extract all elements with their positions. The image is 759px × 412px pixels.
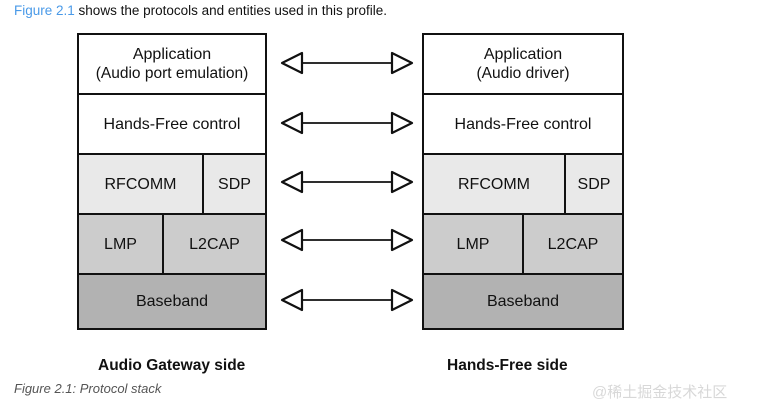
- cell-hands-free-control-right: Hands-Free control: [424, 95, 622, 153]
- cell-sdp-right: SDP: [566, 155, 622, 213]
- watermark: @稀土掘金技术社区: [592, 381, 727, 402]
- figure-reference-link[interactable]: Figure 2.1: [14, 3, 75, 18]
- cell-application-right-sub: (Audio driver): [476, 64, 569, 83]
- cell-l2cap-left: L2CAP: [164, 215, 265, 273]
- connector-hands-free-control-link: [278, 110, 416, 136]
- connector-application-link: [278, 50, 416, 76]
- cell-l2cap-right: L2CAP: [524, 215, 622, 273]
- band-hands-free-control-left: Hands-Free control: [79, 95, 265, 155]
- band-baseband-right: Baseband: [424, 275, 622, 328]
- connector-rfcomm-link: [278, 169, 416, 195]
- cell-rfcomm-right: RFCOMM: [424, 155, 566, 213]
- cell-lmp-left-label: LMP: [104, 235, 137, 254]
- band-rfcomm-sdp-left: RFCOMM SDP: [79, 155, 265, 215]
- cell-l2cap-left-label: L2CAP: [189, 235, 240, 254]
- band-lmp-l2cap-right: LMP L2CAP: [424, 215, 622, 275]
- cell-lmp-right: LMP: [424, 215, 524, 273]
- cell-baseband-right-label: Baseband: [487, 292, 559, 311]
- cell-baseband-right: Baseband: [424, 275, 622, 328]
- cell-sdp-left: SDP: [204, 155, 265, 213]
- intro-sentence: Figure 2.1 shows the protocols and entit…: [14, 1, 387, 21]
- cell-l2cap-right-label: L2CAP: [548, 235, 599, 254]
- cell-hands-free-control-left: Hands-Free control: [79, 95, 265, 153]
- side-label-audio-gateway: Audio Gateway side: [98, 357, 245, 375]
- cell-application-left-label: Application: [133, 46, 211, 63]
- cell-baseband-left-label: Baseband: [136, 292, 208, 311]
- cell-hands-free-control-right-label: Hands-Free control: [455, 115, 592, 134]
- protocol-stack-audio-gateway: Application (Audio port emulation) Hands…: [77, 33, 267, 330]
- cell-rfcomm-left: RFCOMM: [79, 155, 204, 213]
- cell-application-left: Application (Audio port emulation): [79, 35, 265, 93]
- cell-sdp-left-label: SDP: [218, 175, 251, 194]
- band-application-left: Application (Audio port emulation): [79, 35, 265, 95]
- intro-rest-text: shows the protocols and entities used in…: [75, 3, 387, 18]
- cell-baseband-left: Baseband: [79, 275, 265, 328]
- cell-application-right: Application (Audio driver): [424, 35, 622, 93]
- connector-lmp-l2cap-link: [278, 227, 416, 253]
- band-lmp-l2cap-left: LMP L2CAP: [79, 215, 265, 275]
- band-hands-free-control-right: Hands-Free control: [424, 95, 622, 155]
- cell-lmp-left: LMP: [79, 215, 164, 273]
- band-application-right: Application (Audio driver): [424, 35, 622, 95]
- cell-application-right-label: Application: [484, 46, 562, 63]
- connector-baseband-link: [278, 287, 416, 313]
- figure-caption: Figure 2.1: Protocol stack: [14, 381, 161, 396]
- cell-rfcomm-left-label: RFCOMM: [105, 175, 177, 194]
- band-baseband-left: Baseband: [79, 275, 265, 328]
- cell-rfcomm-right-label: RFCOMM: [458, 175, 530, 194]
- cell-hands-free-control-left-label: Hands-Free control: [104, 115, 241, 134]
- side-label-hands-free: Hands-Free side: [447, 357, 568, 375]
- band-rfcomm-sdp-right: RFCOMM SDP: [424, 155, 622, 215]
- cell-application-left-sub: (Audio port emulation): [96, 64, 249, 83]
- cell-sdp-right-label: SDP: [578, 175, 611, 194]
- cell-lmp-right-label: LMP: [457, 235, 490, 254]
- protocol-stack-hands-free: Application (Audio driver) Hands-Free co…: [422, 33, 624, 330]
